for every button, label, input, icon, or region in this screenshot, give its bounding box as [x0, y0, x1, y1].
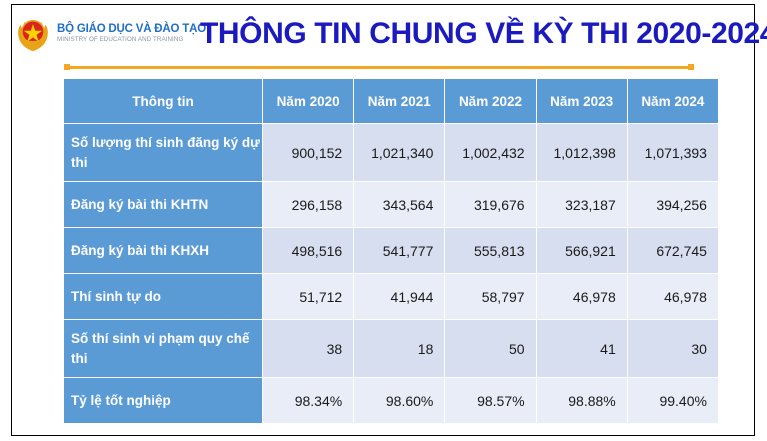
column-header-2022: Năm 2022 — [445, 79, 536, 124]
slide-header: BỘ GIÁO DỤC VÀ ĐÀO TẠO MINISTRY OF EDUCA… — [14, 10, 740, 56]
exam-statistics-table-wrapper: Thông tin Năm 2020 Năm 2021 Năm 2022 Năm… — [63, 78, 718, 424]
column-header-2024: Năm 2024 — [627, 79, 718, 124]
row-label: Tỷ lệ tốt nghiệp — [64, 378, 263, 424]
cell-value: 296,158 — [263, 182, 354, 228]
cell-value: 30 — [627, 320, 718, 378]
table-header-row: Thông tin Năm 2020 Năm 2021 Năm 2022 Năm… — [64, 79, 719, 124]
cell-value: 566,921 — [536, 228, 627, 274]
cell-value: 343,564 — [354, 182, 445, 228]
cell-value: 319,676 — [445, 182, 536, 228]
cell-value: 58,797 — [445, 274, 536, 320]
cell-value: 99.40% — [627, 378, 718, 424]
title-divider — [64, 64, 694, 71]
row-label: Thí sinh tự do — [64, 274, 263, 320]
cell-value: 38 — [263, 320, 354, 378]
table-row: Thí sinh tự do 51,712 41,944 58,797 46,9… — [64, 274, 719, 320]
cell-value: 98.60% — [354, 378, 445, 424]
ministry-logo: BỘ GIÁO DỤC VÀ ĐÀO TẠO MINISTRY OF EDUCA… — [14, 15, 206, 53]
cell-value: 51,712 — [263, 274, 354, 320]
exam-statistics-table: Thông tin Năm 2020 Năm 2021 Năm 2022 Năm… — [63, 78, 719, 424]
table-row: Số lượng thí sinh đăng ký dự thi 900,152… — [64, 124, 719, 182]
column-header-2020: Năm 2020 — [263, 79, 354, 124]
cell-value: 50 — [445, 320, 536, 378]
cell-value: 1,012,398 — [536, 124, 627, 182]
cell-value: 555,813 — [445, 228, 536, 274]
row-label: Đăng ký bài thi KHTN — [64, 182, 263, 228]
cell-value: 18 — [354, 320, 445, 378]
table-row: Đăng ký bài thi KHXH 498,516 541,777 555… — [64, 228, 719, 274]
cell-value: 1,002,432 — [445, 124, 536, 182]
row-label: Số lượng thí sinh đăng ký dự thi — [64, 124, 263, 182]
cell-value: 394,256 — [627, 182, 718, 228]
cell-value: 41 — [536, 320, 627, 378]
column-header-2021: Năm 2021 — [354, 79, 445, 124]
ministry-name-vi: BỘ GIÁO DỤC VÀ ĐÀO TẠO — [57, 24, 206, 36]
table-row: Tỷ lệ tốt nghiệp 98.34% 98.60% 98.57% 98… — [64, 378, 719, 424]
cell-value: 900,152 — [263, 124, 354, 182]
slide-canvas: BỘ GIÁO DỤC VÀ ĐÀO TẠO MINISTRY OF EDUCA… — [0, 0, 767, 441]
cell-value: 46,978 — [627, 274, 718, 320]
page-title: THÔNG TIN CHUNG VỀ KỲ THI 2020-2024 — [200, 17, 767, 51]
cell-value: 498,516 — [263, 228, 354, 274]
column-header-2023: Năm 2023 — [536, 79, 627, 124]
cell-value: 98.57% — [445, 378, 536, 424]
cell-value: 98.88% — [536, 378, 627, 424]
row-label: Đăng ký bài thi KHXH — [64, 228, 263, 274]
row-label: Số thí sinh vi phạm quy chế thi — [64, 320, 263, 378]
divider-dot-right — [688, 64, 694, 70]
cell-value: 46,978 — [536, 274, 627, 320]
ministry-name-en: MINISTRY OF EDUCATION AND TRAINING — [57, 37, 206, 43]
cell-value: 1,021,340 — [354, 124, 445, 182]
cell-value: 323,187 — [536, 182, 627, 228]
table-row: Số thí sinh vi phạm quy chế thi 38 18 50… — [64, 320, 719, 378]
column-header-info: Thông tin — [64, 79, 263, 124]
divider-line — [68, 66, 690, 69]
ministry-logo-text: BỘ GIÁO DỤC VÀ ĐÀO TẠO MINISTRY OF EDUCA… — [57, 24, 206, 44]
cell-value: 1,071,393 — [627, 124, 718, 182]
vietnam-national-emblem-icon — [14, 15, 52, 53]
table-row: Đăng ký bài thi KHTN 296,158 343,564 319… — [64, 182, 719, 228]
cell-value: 541,777 — [354, 228, 445, 274]
cell-value: 672,745 — [627, 228, 718, 274]
cell-value: 98.34% — [263, 378, 354, 424]
cell-value: 41,944 — [354, 274, 445, 320]
